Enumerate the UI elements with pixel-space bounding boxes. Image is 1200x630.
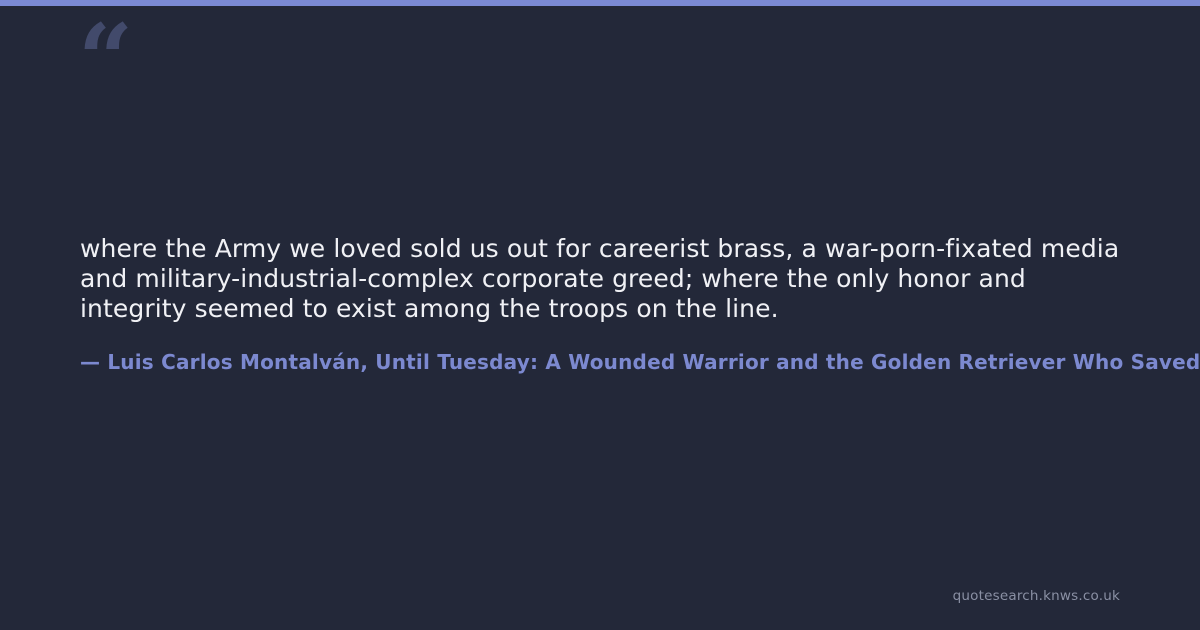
quote-attribution: — Luis Carlos Montalván, Until Tuesday: …	[80, 348, 1200, 376]
quote-body: where the Army we loved sold us out for …	[80, 234, 1140, 324]
quote-text: where the Army we loved sold us out for …	[80, 234, 1140, 324]
site-watermark: quotesearch.knws.co.uk	[953, 588, 1120, 604]
quotation-mark-icon: “	[78, 12, 131, 108]
attribution-container: — Luis Carlos Montalván, Until Tuesday: …	[80, 348, 1200, 380]
top-accent-bar	[0, 0, 1200, 6]
quote-card: “ where the Army we loved sold us out fo…	[0, 0, 1200, 630]
